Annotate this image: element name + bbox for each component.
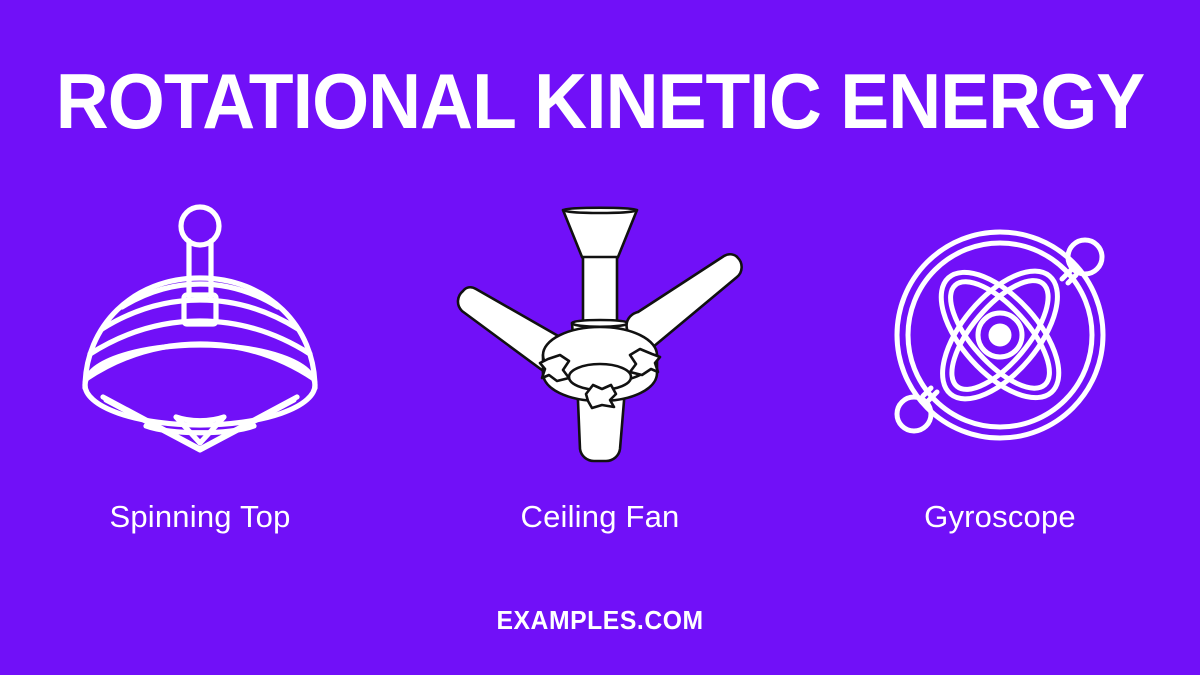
item-label-gyroscope: Gyroscope — [924, 499, 1076, 534]
poster-canvas: ROTATIONAL KINETIC ENERGY — [0, 0, 1200, 675]
label-cell-gyroscope: Gyroscope — [800, 496, 1200, 538]
item-label-ceiling-fan: Ceiling Fan — [520, 499, 679, 534]
ceiling-fan-icon — [450, 195, 750, 465]
item-gyroscope — [800, 195, 1200, 495]
label-cell-spinning-top: Spinning Top — [0, 496, 400, 538]
label-cell-ceiling-fan: Ceiling Fan — [400, 496, 800, 538]
page-title: ROTATIONAL KINETIC ENERGY — [36, 62, 1164, 140]
footer: EXAMPLES.COM — [0, 604, 1200, 636]
item-label-spinning-top: Spinning Top — [109, 499, 290, 534]
spinning-top-icon — [50, 195, 350, 465]
illustration-row — [0, 195, 1200, 495]
brand-watermark: EXAMPLES.COM — [496, 604, 703, 636]
label-row: Spinning Top Ceiling Fan Gyroscope — [0, 496, 1200, 538]
item-spinning-top — [0, 195, 400, 495]
gyroscope-icon — [850, 195, 1150, 465]
item-ceiling-fan — [400, 195, 800, 495]
